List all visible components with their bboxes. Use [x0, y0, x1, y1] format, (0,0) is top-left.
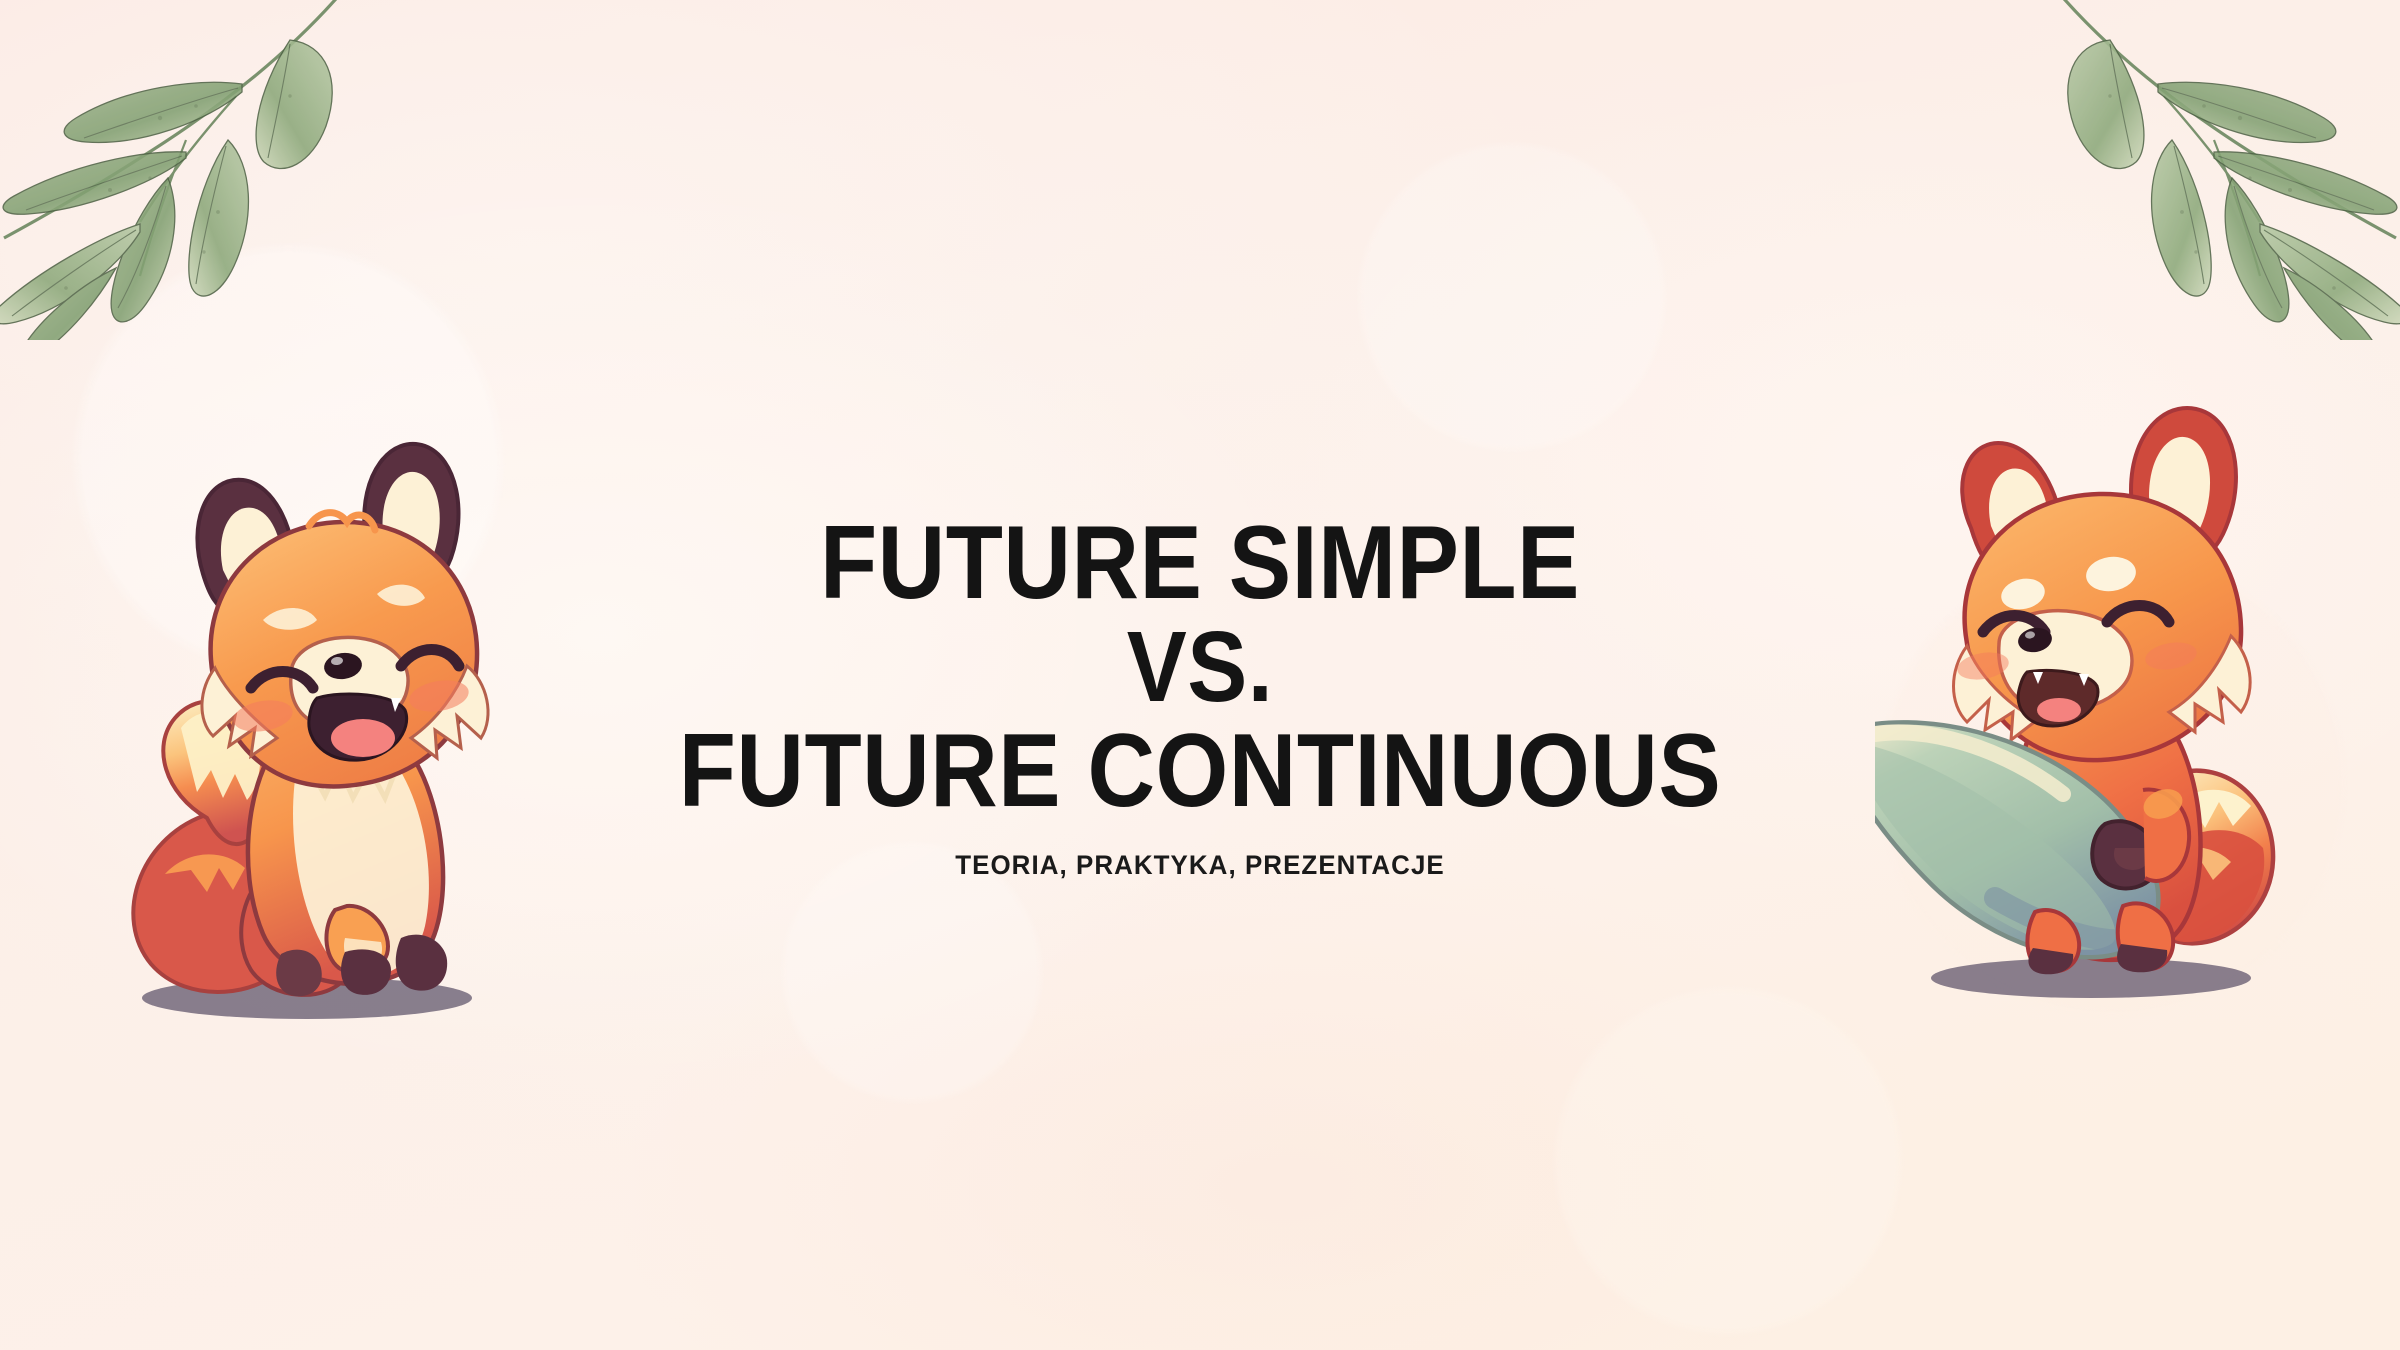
- title-line-3: FUTURE CONTINUOUS: [120, 718, 2280, 824]
- subtitle: TEORIA, PRAKTYKA, PREZENTACJE: [48, 850, 2352, 881]
- title-line-2: VS.: [120, 616, 2280, 718]
- presentation-slide: FUTURE SIMPLE VS. FUTURE CONTINUOUS TEOR…: [0, 0, 2400, 1350]
- title-line-1: FUTURE SIMPLE: [120, 510, 2280, 616]
- olive-branch-icon: [1910, 0, 2400, 340]
- olive-branch-icon: [0, 0, 490, 340]
- title-block: FUTURE SIMPLE VS. FUTURE CONTINUOUS TEOR…: [0, 510, 2400, 881]
